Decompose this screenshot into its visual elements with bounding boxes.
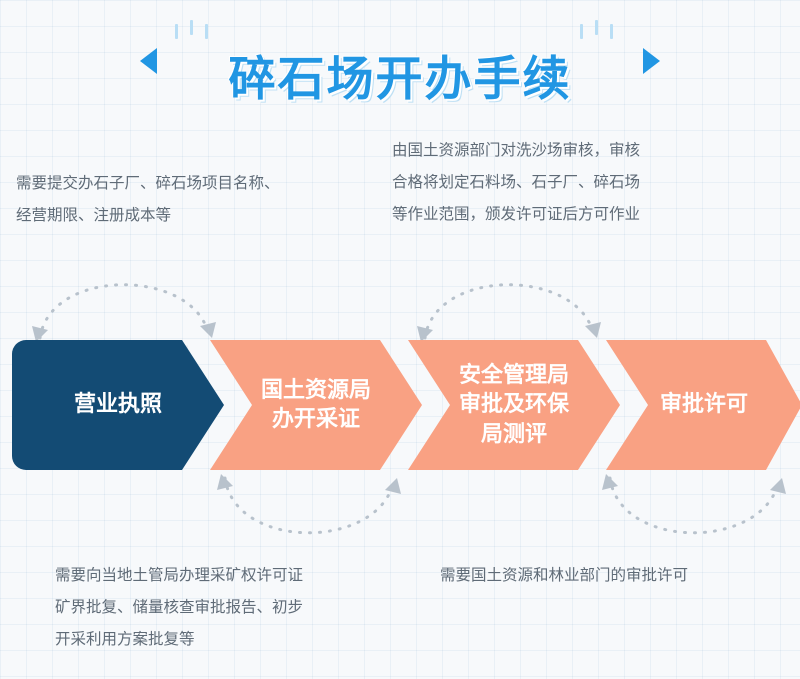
step-4-chevron[interactable]: 审批许可 bbox=[606, 340, 800, 470]
step-2-label: 国土资源局 办开采证 bbox=[255, 376, 377, 434]
dotted-arc-bottom-right bbox=[600, 468, 790, 558]
title-tick bbox=[595, 20, 598, 35]
caption-top-left: 需要提交办石子厂、碎石场项目名称、 经营期限、注册成本等 bbox=[16, 168, 376, 232]
caption-bottom-left: 需要向当地土管局办理采矿权许可证 矿界批复、储量核查审批报告、初步 开采利用方案… bbox=[55, 560, 415, 655]
step-4-label: 审批许可 bbox=[654, 390, 754, 419]
step-1-label: 营业执照 bbox=[68, 390, 168, 419]
title-tick bbox=[175, 24, 178, 39]
step-3-label: 安全管理局 审批及环保 局测评 bbox=[453, 361, 575, 448]
title-area: 碎石场开办手续 bbox=[0, 18, 800, 113]
step-3-chevron[interactable]: 安全管理局 审批及环保 局测评 bbox=[408, 340, 620, 470]
caption-top-right: 由国土资源部门对洗沙场审核，审核 合格将划定石料场、石子厂、碎石场 等作业范围，… bbox=[392, 135, 752, 230]
infographic-canvas: 碎石场开办手续 01 02 03 04 营业执照 国土资源局 办开采证 安全管理… bbox=[0, 0, 800, 679]
title-tick bbox=[190, 20, 193, 35]
title-tick bbox=[610, 24, 613, 39]
dotted-arc-top-left bbox=[30, 258, 220, 348]
title-tick bbox=[580, 24, 583, 39]
dotted-arc-bottom-left bbox=[215, 468, 405, 558]
caption-bottom-right: 需要国土资源和林业部门的审批许可 bbox=[440, 560, 780, 592]
step-1-chevron[interactable]: 营业执照 bbox=[12, 340, 224, 470]
page-title: 碎石场开办手续 bbox=[0, 40, 800, 109]
step-2-chevron[interactable]: 国土资源局 办开采证 bbox=[210, 340, 422, 470]
title-tick bbox=[205, 24, 208, 39]
dotted-arc-top-right bbox=[415, 258, 605, 348]
process-flow: 营业执照 国土资源局 办开采证 安全管理局 审批及环保 局测评 审批许可 bbox=[12, 340, 800, 470]
